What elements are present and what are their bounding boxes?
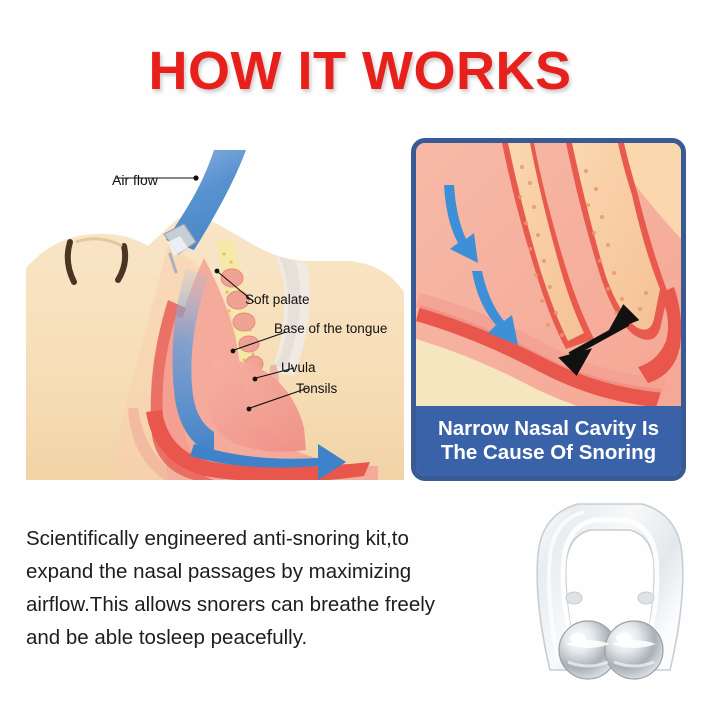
description-line-4: and be able tosleep peacefully.	[26, 621, 506, 654]
magnet-ball-right	[605, 621, 663, 679]
nasal-cavity-svg	[416, 143, 681, 418]
caption-line-2: The Cause Of Snoring	[441, 441, 656, 465]
label-base-of-tongue: Base of the tongue	[274, 321, 387, 336]
caption-line-1: Narrow Nasal Cavity Is	[438, 417, 659, 441]
panel-caption: Narrow Nasal Cavity Is The Cause Of Snor…	[416, 406, 681, 476]
head-airway-svg	[18, 150, 410, 480]
head-airway-diagram	[18, 150, 410, 480]
clip-nub-right	[638, 592, 654, 604]
description-line-1: Scientifically engineered anti-snoring k…	[26, 522, 506, 555]
page-title: HOW IT WORKS	[0, 40, 720, 102]
clip-nub-left	[566, 592, 582, 604]
description-line-2: expand the nasal passages by maximizing	[26, 555, 506, 588]
label-uvula: Uvula	[281, 360, 316, 375]
narrow-nasal-cavity-panel: Narrow Nasal Cavity Is The Cause Of Snor…	[411, 138, 686, 481]
nose-clip-svg	[512, 492, 708, 687]
product-image-nose-clip	[512, 492, 708, 687]
label-air-flow: Air flow	[112, 172, 158, 188]
label-soft-palate: Soft palate	[245, 292, 310, 307]
infographic-page: HOW IT WORKS	[0, 0, 720, 720]
description-line-3: airflow.This allows snorers can breathe …	[26, 588, 506, 621]
label-tonsils: Tonsils	[296, 381, 337, 396]
description-text: Scientifically engineered anti-snoring k…	[26, 522, 506, 654]
